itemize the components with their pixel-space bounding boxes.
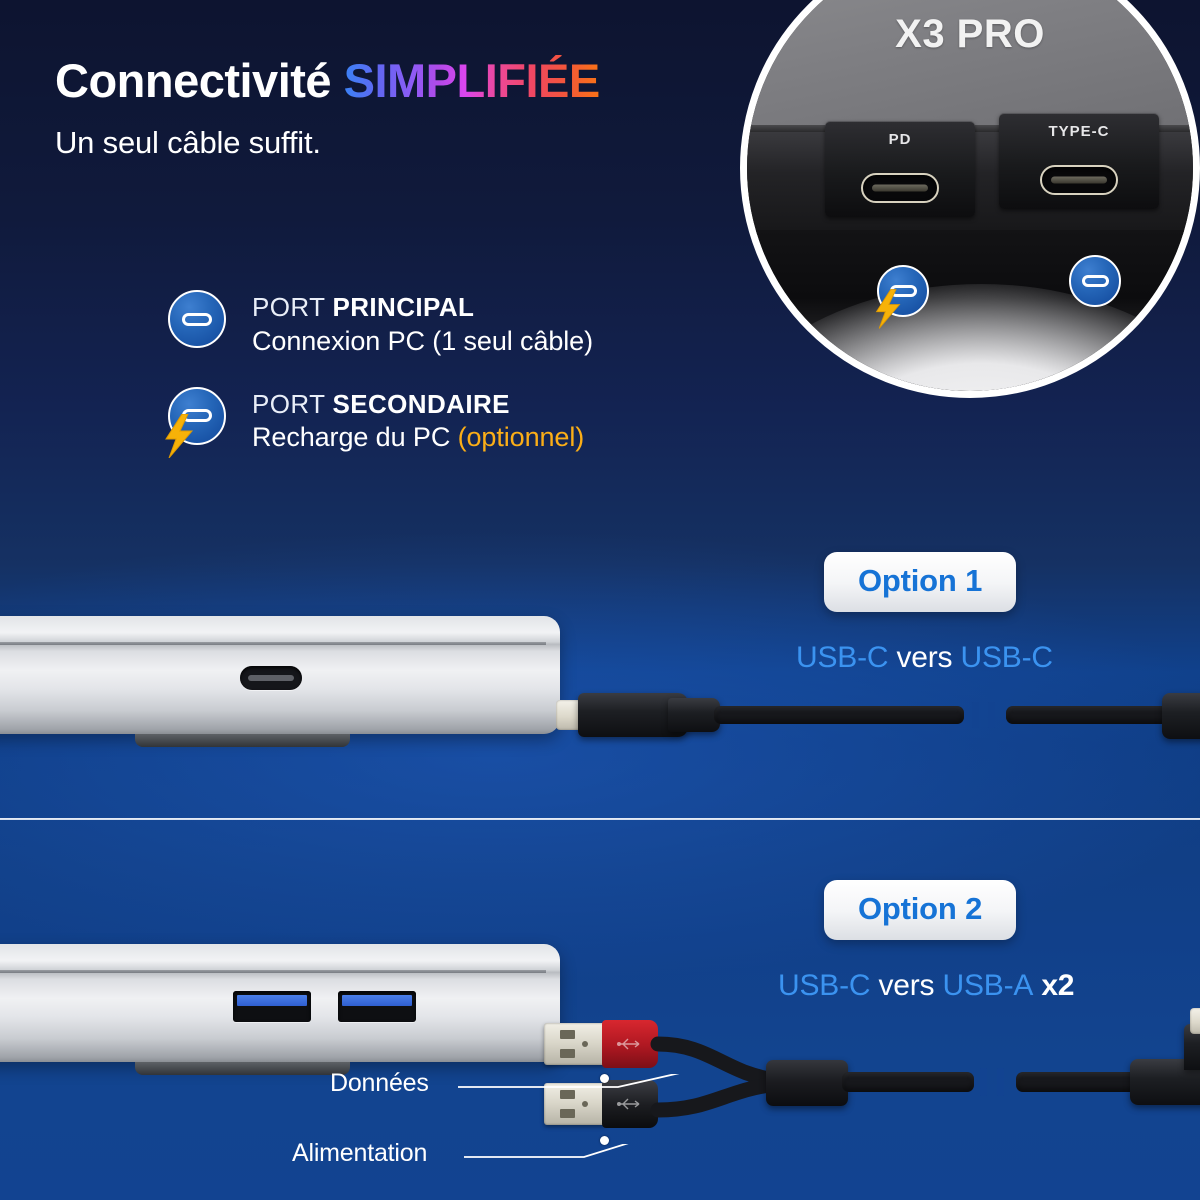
laptop-usb-a-port-2 — [338, 991, 416, 1022]
cable-y-junction-block — [766, 1060, 848, 1106]
legend-desc-principal: Connexion PC (1 seul câble) — [252, 326, 593, 357]
lightning-bolt-icon — [873, 289, 903, 329]
cable1-left-boot — [668, 698, 720, 732]
title-plain-text: Connectivité — [55, 54, 331, 107]
usb-a-plug-data-shell — [544, 1023, 606, 1065]
laptop-edge-usba — [0, 944, 560, 1062]
laptop-foot — [135, 1062, 350, 1075]
usb-a-plug-data — [544, 1020, 636, 1068]
legend-desc-accent: (optionnel) — [458, 422, 584, 452]
laptop-usb-c-port — [240, 666, 302, 690]
legend-title-secondaire: PORT SECONDAIRE — [252, 389, 584, 420]
cable2-cord-right — [1016, 1072, 1146, 1092]
photo-port-pd: PD — [825, 121, 975, 217]
legend-title-principal: PORT PRINCIPAL — [252, 292, 593, 323]
option-2-badge[interactable]: Option 2 — [824, 880, 1016, 940]
cable2-right-tip — [1190, 1008, 1200, 1034]
port-legend: PORT PRINCIPAL Connexion PC (1 seul câbl… — [168, 290, 758, 453]
callout-alimentation-dot — [600, 1136, 609, 1145]
legend-title-prefix: PORT — [252, 292, 333, 322]
callout-donnees-dot — [600, 1074, 609, 1083]
usb-a-plug-data-pin — [582, 1041, 588, 1047]
legend-desc-plain: Connexion PC (1 seul câble) — [252, 326, 593, 356]
photo-inner: X3 PRO PD TYPE-C — [747, 0, 1193, 391]
option-1-badge[interactable]: Option 1 — [824, 552, 1016, 612]
legend-text-principal: PORT PRINCIPAL Connexion PC (1 seul câbl… — [252, 290, 593, 357]
callout-donnees-label: Données — [330, 1069, 429, 1098]
usb-c-icon — [168, 290, 226, 348]
callout-donnees-line — [458, 1074, 708, 1110]
option-2-suffix: x2 — [1033, 969, 1074, 1002]
title-gradient-text: SIMPLIFIÉE — [344, 54, 600, 107]
photo-port-typec: TYPE-C — [999, 113, 1159, 209]
photo-marker-typec — [1069, 255, 1125, 311]
legend-item-secondaire: PORT SECONDAIRE Recharge du PC (optionne… — [168, 387, 758, 454]
cable1-cord-right — [1006, 706, 1174, 724]
lightning-bolt-icon — [162, 414, 196, 458]
laptop-edge-usbc — [0, 616, 560, 734]
cable2-length-break — [976, 1068, 1014, 1096]
legend-icon-wrap-principal — [168, 290, 230, 352]
legend-text-secondaire: PORT SECONDAIRE Recharge du PC (optionne… — [252, 387, 584, 454]
photo-marker-pd — [877, 265, 933, 321]
infographic-canvas: Connectivité SIMPLIFIÉE Un seul câble su… — [0, 0, 1200, 1200]
usb-c-icon — [1069, 255, 1121, 307]
photo-port-pd-label: PD — [825, 131, 975, 148]
product-photo-circle: X3 PRO PD TYPE-C — [740, 0, 1200, 398]
photo-port-pd-hole — [861, 173, 939, 203]
laptop-foot — [135, 734, 350, 747]
callout-alimentation-label: Alimentation — [292, 1139, 427, 1168]
section-divider — [0, 818, 1200, 820]
cable1-right-connector — [1162, 693, 1200, 739]
photo-port-typec-hole — [1040, 165, 1118, 195]
callout-alimentation-line — [464, 1144, 714, 1180]
option-2-tail: USB-A — [943, 969, 1034, 1002]
legend-desc-secondaire: Recharge du PC (optionnel) — [252, 422, 584, 453]
option-2-subtitle: USB-C vers USB-A x2 — [778, 969, 1074, 1003]
option-2-lead: USB-C — [778, 969, 870, 1002]
usb-c-glyph — [1082, 275, 1109, 287]
legend-title-strong: SECONDAIRE — [333, 389, 510, 419]
legend-item-principal: PORT PRINCIPAL Connexion PC (1 seul câbl… — [168, 290, 758, 357]
photo-port-typec-label: TYPE-C — [999, 123, 1159, 140]
header: Connectivité SIMPLIFIÉE Un seul câble su… — [55, 56, 755, 161]
laptop-usb-a-port-1 — [233, 991, 311, 1022]
option-2-mid: vers — [870, 969, 942, 1002]
page-subtitle: Un seul câble suffit. — [55, 125, 755, 161]
usb-c-glyph — [182, 313, 212, 326]
cable2-cord-left — [842, 1072, 974, 1092]
cable1-length-break — [968, 702, 1004, 728]
legend-icon-wrap-secondaire — [168, 387, 230, 449]
page-title: Connectivité SIMPLIFIÉE — [55, 56, 755, 105]
legend-title-strong: PRINCIPAL — [333, 292, 475, 322]
cable-usbc-to-usbc — [556, 660, 1176, 770]
cable1-cord-left — [714, 706, 964, 724]
laptop-seam — [0, 642, 546, 645]
product-brand-label: X3 PRO — [747, 12, 1193, 57]
laptop-seam — [0, 970, 546, 973]
legend-title-prefix: PORT — [252, 389, 333, 419]
legend-desc-plain: Recharge du PC — [252, 422, 458, 452]
